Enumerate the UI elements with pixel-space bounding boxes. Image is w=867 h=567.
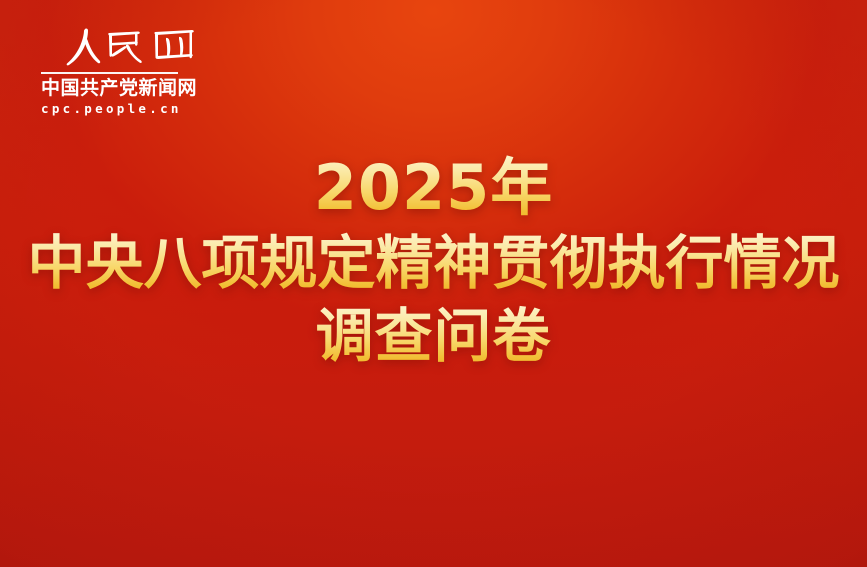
title-sub-line: 调查问卷	[0, 303, 867, 370]
logo-site-name: 中国共产党新闻网	[41, 79, 241, 99]
renminwang-calligraphy-logo-icon	[63, 26, 203, 68]
title-main-line: 中央八项规定精神贯彻执行情况	[0, 230, 867, 297]
site-logo[interactable]: 中国共产党新闻网 cpc.people.cn	[41, 26, 241, 116]
logo-site-url: cpc.people.cn	[41, 102, 241, 116]
title-year-line: 2025年	[0, 152, 867, 224]
page-title: 2025年 中央八项规定精神贯彻执行情况 调查问卷	[0, 152, 867, 370]
poster-banner: 中国共产党新闻网 cpc.people.cn 2025年 中央八项规定精神贯彻执…	[0, 0, 867, 567]
logo-divider	[41, 72, 178, 74]
